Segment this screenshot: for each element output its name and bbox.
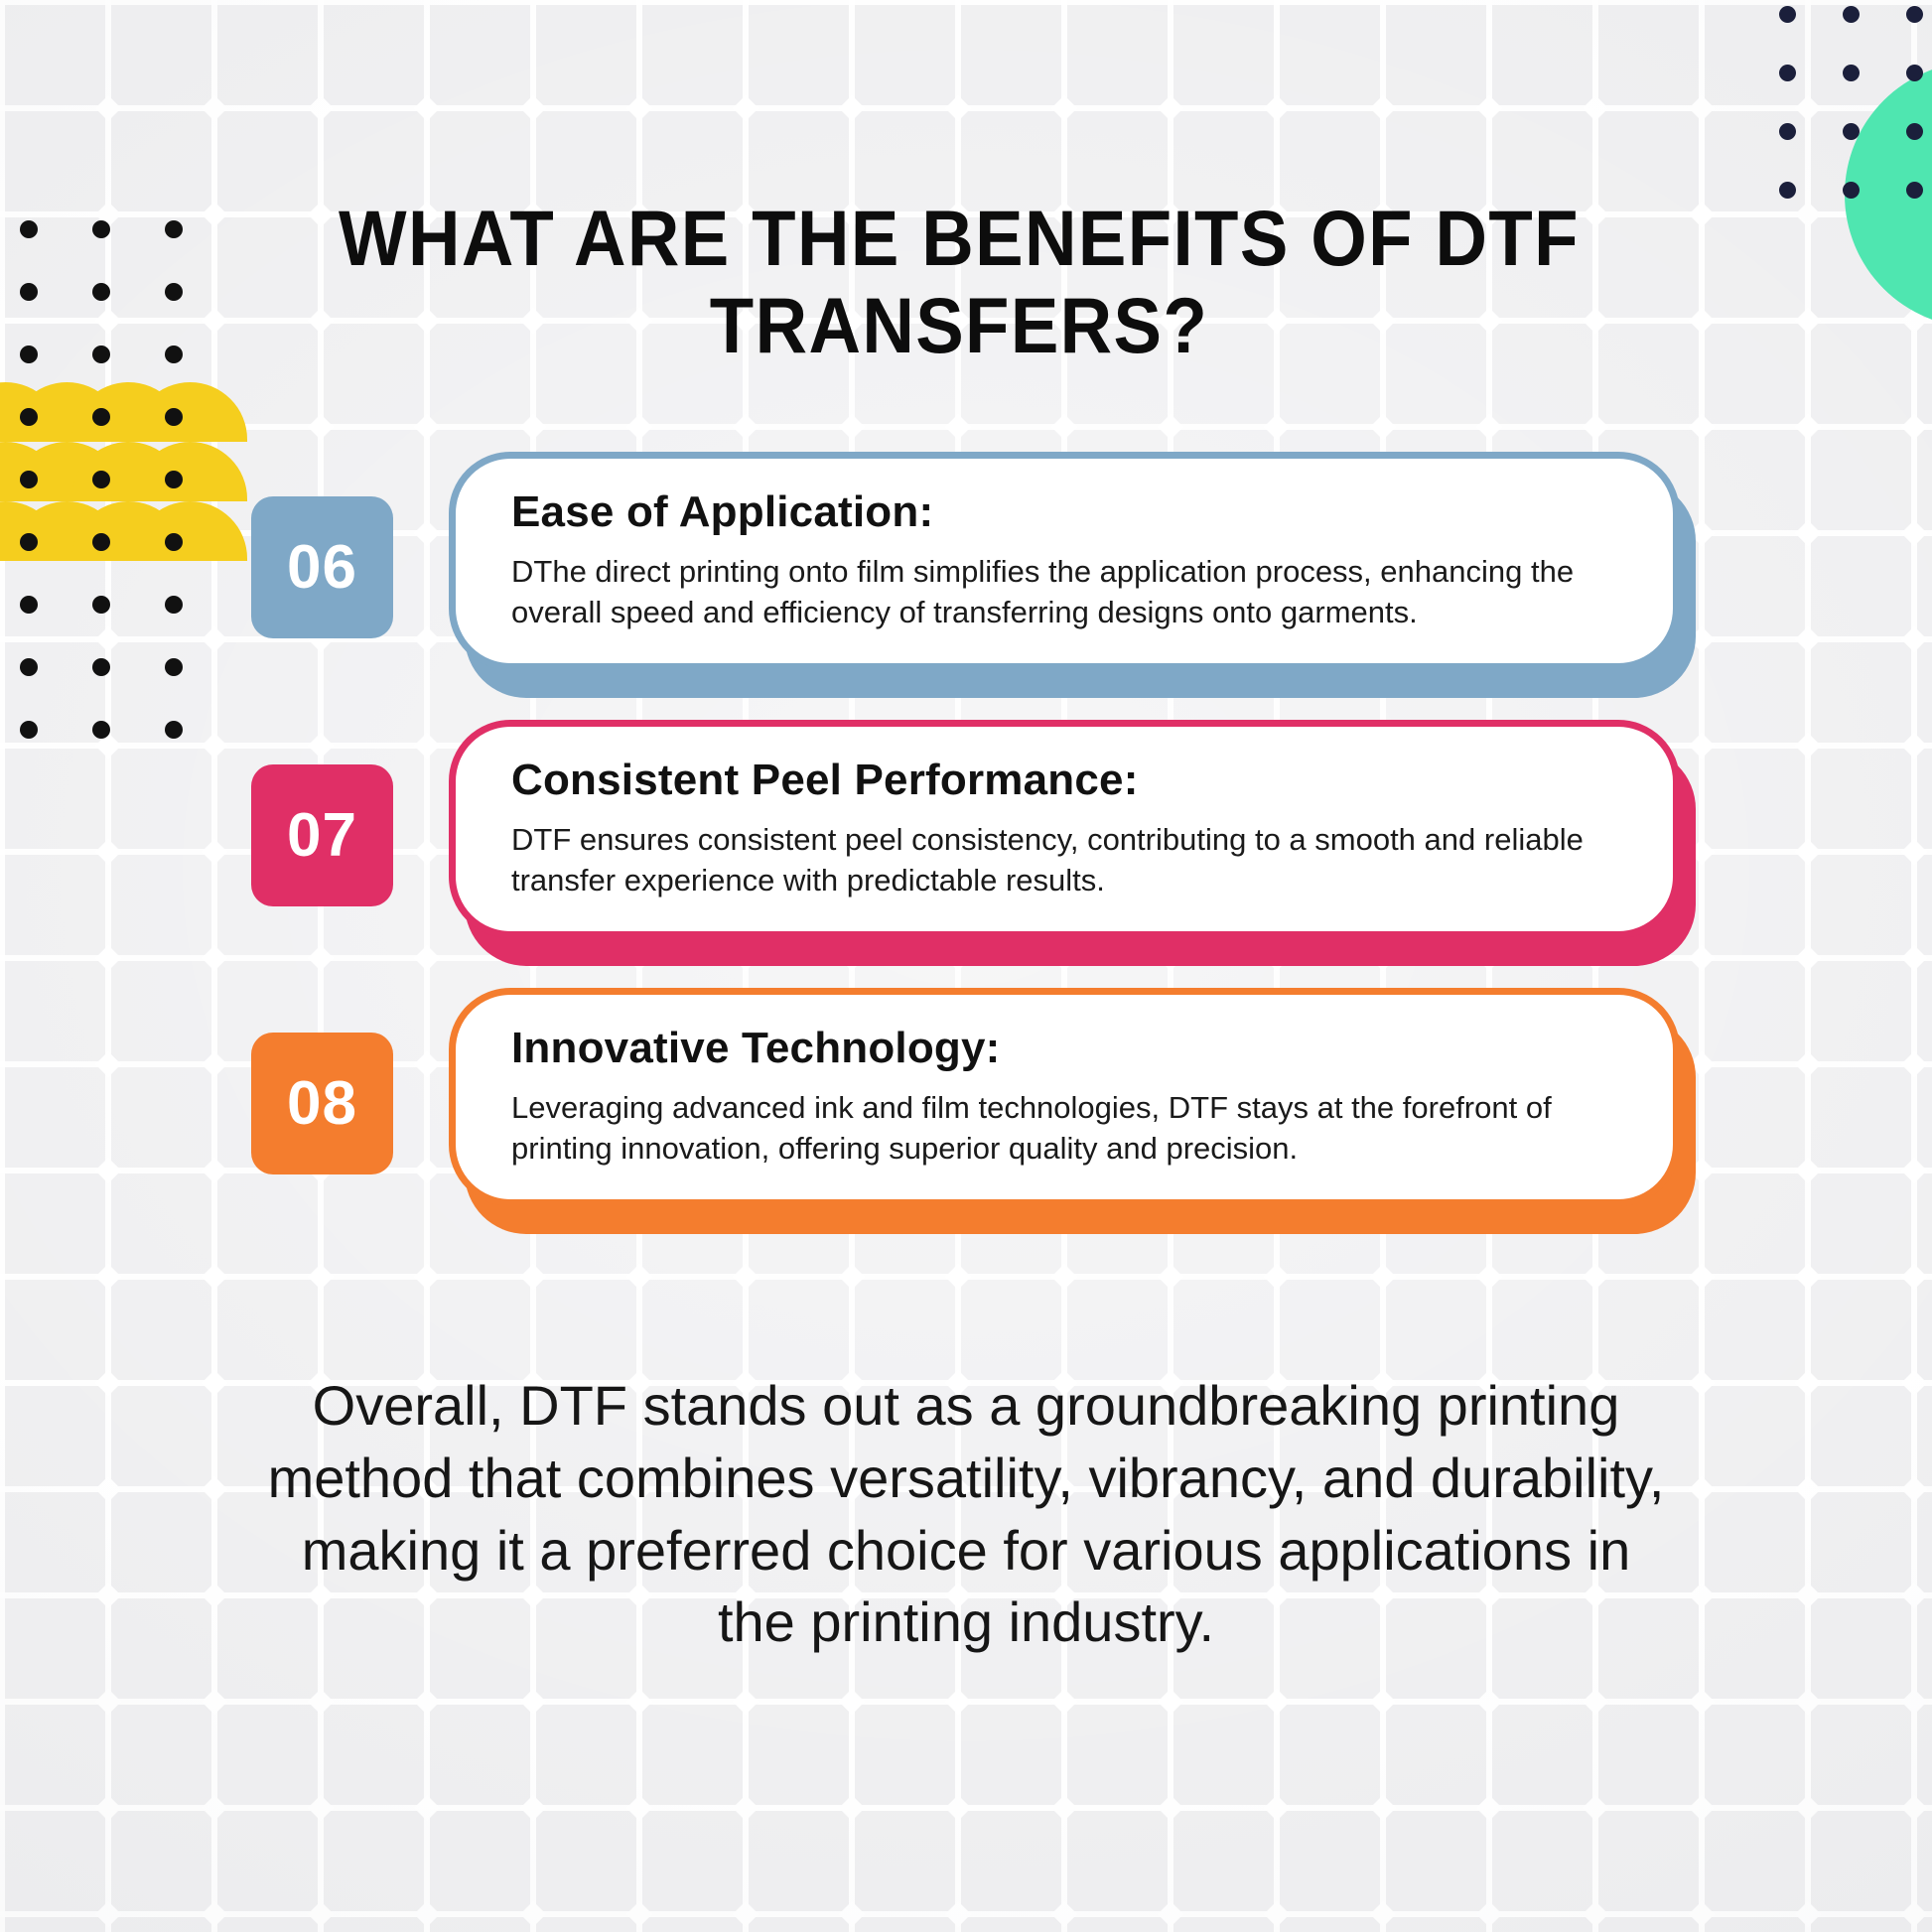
decorative-dot bbox=[1843, 6, 1860, 23]
yellow-semicircle bbox=[10, 382, 124, 442]
yellow-semicircle bbox=[71, 382, 186, 442]
benefit-card-wrapper-06: Ease of Application: DThe direct printin… bbox=[449, 452, 1680, 670]
benefit-card-06[interactable]: Ease of Application: DThe direct printin… bbox=[449, 452, 1680, 670]
decorative-dot bbox=[92, 220, 110, 238]
benefit-row-06: 06 Ease of Application: DThe direct prin… bbox=[0, 452, 1932, 710]
step-number-text: 06 bbox=[287, 532, 357, 603]
decorative-dot bbox=[92, 408, 110, 426]
benefit-card-body: DTF ensures consistent peel consistency,… bbox=[511, 820, 1593, 901]
decorative-dot bbox=[1779, 182, 1796, 199]
decorative-dot bbox=[92, 345, 110, 363]
step-number-text: 07 bbox=[287, 800, 357, 871]
decorative-dot bbox=[1906, 6, 1923, 23]
step-number-badge-08: 08 bbox=[251, 1033, 393, 1174]
benefit-row-07: 07 Consistent Peel Performance: DTF ensu… bbox=[0, 720, 1932, 978]
benefit-card-08[interactable]: Innovative Technology: Leveraging advanc… bbox=[449, 988, 1680, 1206]
decorative-dot bbox=[1843, 123, 1860, 140]
step-number-text: 08 bbox=[287, 1068, 357, 1139]
benefit-card-07[interactable]: Consistent Peel Performance: DTF ensures… bbox=[449, 720, 1680, 938]
benefit-card-title: Consistent Peel Performance: bbox=[511, 757, 1617, 804]
step-number-badge-07: 07 bbox=[251, 764, 393, 906]
decorative-dot bbox=[92, 283, 110, 301]
decorative-dot bbox=[165, 408, 183, 426]
step-number-badge-06: 06 bbox=[251, 496, 393, 638]
decorative-dot bbox=[1779, 65, 1796, 81]
yellow-semicircle bbox=[133, 382, 247, 442]
decorative-dot bbox=[20, 345, 38, 363]
benefit-row-08: 08 Innovative Technology: Leveraging adv… bbox=[0, 988, 1932, 1246]
infographic-canvas: WHAT ARE THE BENEFITS OF DTF TRANSFERS? … bbox=[0, 0, 1932, 1932]
decorative-dot bbox=[1779, 123, 1796, 140]
mint-circle-decoration bbox=[1845, 62, 1932, 328]
yellow-semicircle bbox=[0, 382, 63, 442]
benefit-card-body: Leveraging advanced ink and film technol… bbox=[511, 1088, 1593, 1170]
decorative-dot bbox=[165, 345, 183, 363]
benefit-card-title: Innovative Technology: bbox=[511, 1025, 1617, 1072]
decorative-dot bbox=[1906, 65, 1923, 81]
decorative-dot bbox=[20, 283, 38, 301]
decorative-dot bbox=[20, 408, 38, 426]
benefit-card-title: Ease of Application: bbox=[511, 488, 1617, 536]
decorative-dot bbox=[1906, 182, 1923, 199]
benefit-card-list: 06 Ease of Application: DThe direct prin… bbox=[0, 452, 1932, 1256]
summary-paragraph: Overall, DTF stands out as a groundbreak… bbox=[261, 1370, 1671, 1659]
benefit-card-wrapper-08: Innovative Technology: Leveraging advanc… bbox=[449, 988, 1680, 1206]
benefit-card-body: DThe direct printing onto film simplifie… bbox=[511, 552, 1593, 633]
decorative-dot bbox=[1779, 6, 1796, 23]
decorative-dot bbox=[165, 220, 183, 238]
benefit-card-wrapper-07: Consistent Peel Performance: DTF ensures… bbox=[449, 720, 1680, 938]
decorative-dot bbox=[165, 283, 183, 301]
decorative-dot bbox=[1906, 123, 1923, 140]
page-title: WHAT ARE THE BENEFITS OF DTF TRANSFERS? bbox=[292, 195, 1625, 370]
decorative-dot bbox=[1843, 65, 1860, 81]
decorative-dot bbox=[1843, 182, 1860, 199]
decorative-dot bbox=[20, 220, 38, 238]
